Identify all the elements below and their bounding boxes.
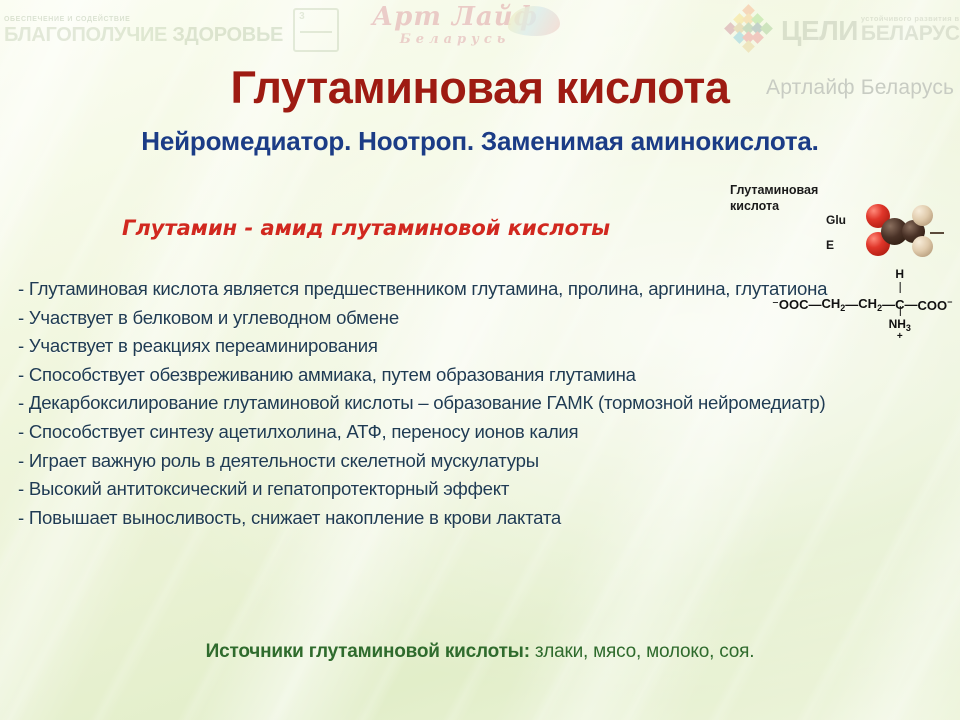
molecule-3d-model-icon: [862, 200, 952, 270]
artlife-swoosh-icon: [508, 6, 560, 36]
logo-goals-sub: БЕЛАРУСИ: [861, 24, 960, 43]
page-title: Глутаминовая кислота: [0, 62, 960, 114]
logo-health-text: ОБЕСПЕЧЕНИЕ И СОДЕЙСТВИЕ БЛАГОПОЛУЧИЕ ЗД…: [4, 16, 283, 45]
logo-health-word-right: ЗДОРОВЬЕ: [172, 24, 283, 46]
logo-health-word-left: БЛАГОПОЛУЧИЕ: [4, 24, 167, 46]
list-item: - Способствует синтезу ацетилхолина, АТФ…: [18, 419, 898, 444]
molecule-code-one-letter: E: [826, 233, 846, 258]
heartbeat-icon: [293, 8, 339, 52]
list-item: - Участвует в белковом и углеводном обме…: [18, 305, 898, 330]
logo-tseli-belarusi: ЦЕЛИ устойчивого развития в БЕЛАРУСИ: [726, 6, 960, 52]
bullet-list: - Глутаминовая кислота является предшест…: [18, 276, 898, 533]
list-item: - Участвует в реакциях переаминирования: [18, 333, 898, 358]
logo-band: ОБЕСПЕЧЕНИЕ И СОДЕЙСТВИЕ БЛАГОПОЛУЧИЕ ЗД…: [0, 0, 960, 58]
logo-goals-superscript: устойчивого развития в: [861, 15, 960, 23]
molecule-panel: Глутаминовая кислота Glu E: [716, 182, 956, 282]
logo-artlife-belarus: Арт Лайф Беларусь: [372, 4, 538, 47]
logo-goals-right: устойчивого развития в БЕЛАРУСИ: [861, 15, 960, 44]
slide-root: ОБЕСПЕЧЕНИЕ И СОДЕЙСТВИЕ БЛАГОПОЛУЧИЕ ЗД…: [0, 0, 960, 720]
page-subtitle: Нейромедиатор. Ноотроп. Заменимая аминок…: [0, 126, 960, 157]
list-item: - Глутаминовая кислота является предшест…: [18, 276, 898, 301]
logo-health-superscript: ОБЕСПЕЧЕНИЕ И СОДЕЙСТВИЕ: [4, 16, 283, 23]
formula-dash-4: —: [904, 297, 917, 312]
logo-goals-main: ЦЕЛИ: [781, 18, 858, 44]
molecule-code-three-letter: Glu: [826, 208, 846, 233]
logo-health-main: БЛАГОПОЛУЧИЕ ЗДОРОВЬЕ: [4, 25, 283, 45]
sources-value: злаки, мясо, молоко, соя.: [530, 641, 754, 662]
list-item: - Способствует обезвреживанию аммиака, п…: [18, 362, 898, 387]
logo-artlife-sub: Беларусь: [400, 32, 511, 47]
list-item: - Играет важную роль в деятельности скел…: [18, 448, 898, 473]
sources-label: Источники глутаминовой кислоты:: [206, 641, 530, 662]
logo-blagopoluchie-zdorovye: ОБЕСПЕЧЕНИЕ И СОДЕЙСТВИЕ БЛАГОПОЛУЧИЕ ЗД…: [4, 8, 339, 52]
list-item: - Декарбоксилирование глутаминовой кисло…: [18, 390, 898, 415]
sources-footer: Источники глутаминовой кислоты: злаки, м…: [0, 641, 960, 663]
molecule-codes: Glu E: [826, 208, 846, 258]
logo-goals-text: ЦЕЛИ устойчивого развития в БЕЛАРУСИ: [781, 15, 960, 44]
list-item: - Повышает выносливость, снижает накопле…: [18, 505, 898, 530]
sdg-diamond-icon: [726, 6, 774, 52]
molecule-name-label: Глутаминовая кислота: [730, 182, 835, 214]
formula-right-group: COO−: [917, 297, 952, 313]
lead-italic-note: Глутамин - амид глутаминовой кислоты: [122, 216, 610, 240]
list-item: - Высокий антитоксический и гепатопротек…: [18, 476, 898, 501]
